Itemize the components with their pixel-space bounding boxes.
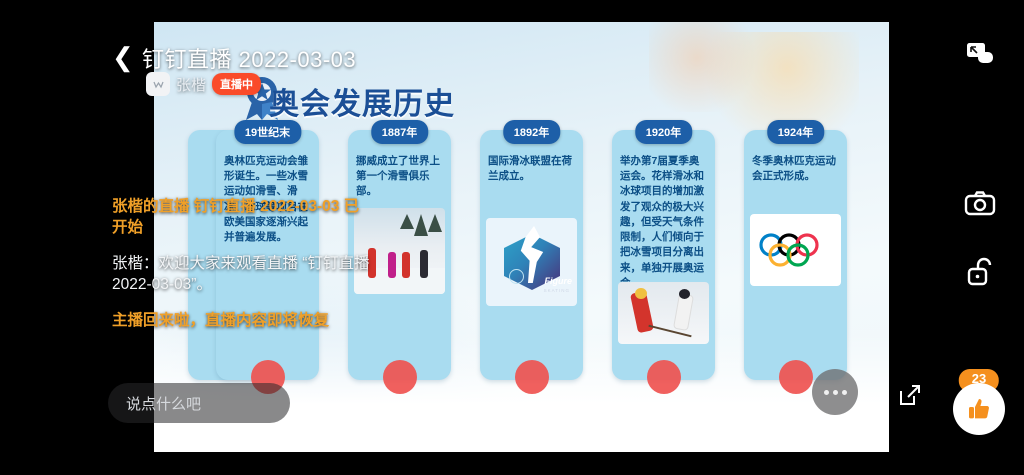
- decor-sparkle-2: [649, 22, 769, 112]
- chat-input-placeholder: 说点什么吧: [126, 393, 201, 414]
- unlock-icon: [966, 257, 994, 287]
- lock-screen-button[interactable]: [954, 246, 1006, 298]
- ice-hockey-photo: [618, 282, 709, 344]
- thumbs-up-icon: [965, 395, 993, 423]
- chat-input[interactable]: 说点什么吧: [108, 383, 290, 423]
- picture-in-picture-button[interactable]: [954, 28, 1006, 80]
- card-text: 举办第7届夏季奥运会。花样滑冰和冰球项目的增加激发了观众的极大兴趣，但受天气条件…: [620, 154, 707, 291]
- share-external-icon: [897, 382, 923, 408]
- card-year-badge: 1892年: [503, 120, 560, 144]
- card-dot: [779, 360, 813, 394]
- card-year-badge: 1924年: [767, 120, 824, 144]
- host-name: 张楷: [176, 74, 206, 95]
- card-text: 挪威成立了世界上第一个滑雪俱乐部。: [356, 154, 443, 200]
- host-info[interactable]: 张楷 直播中: [146, 72, 261, 96]
- screenshot-button[interactable]: [954, 178, 1006, 230]
- chat-message: 张楷的直播 钉钉直播 2022-03-03 已开始: [112, 196, 372, 239]
- share-button[interactable]: [888, 373, 932, 417]
- live-stream-screen: 奥会发展历史 19世纪末 奥林匹克运动会雏形诞生。一些冰雪运动如滑雪、滑冰、冰球…: [0, 0, 1024, 475]
- card-dot: [515, 360, 549, 394]
- timeline-card[interactable]: 1920年 举办第7届夏季奥运会。花样滑冰和冰球项目的增加激发了观众的极大兴趣，…: [612, 130, 715, 380]
- chat-message: 张楷：欢迎大家来观看直播 “钉钉直播 2022-03-03”。: [112, 253, 372, 296]
- chat-message: 主播回来啦，直播内容即将恢复: [112, 310, 372, 331]
- back-icon[interactable]: ❮: [112, 44, 134, 70]
- more-dots-icon: [833, 390, 838, 395]
- card-dot: [647, 360, 681, 394]
- card-text: 国际滑冰联盟在荷兰成立。: [488, 154, 575, 184]
- page-title: 钉钉直播 2022-03-03: [142, 42, 356, 74]
- more-options-button[interactable]: [812, 369, 858, 415]
- live-status-badge: 直播中: [212, 73, 261, 95]
- avatar[interactable]: [146, 72, 170, 96]
- card-year-badge: 19世纪末: [234, 120, 301, 144]
- more-dots-icon: [824, 390, 829, 395]
- picture-in-picture-icon: [965, 41, 995, 67]
- olympic-rings-icon: [750, 214, 841, 286]
- timeline-card[interactable]: 1924年 冬季奥林匹克运动会正式形成。: [744, 130, 847, 380]
- chat-overlay[interactable]: 张楷的直播 钉钉直播 2022-03-03 已开始 张楷：欢迎大家来观看直播 “…: [112, 196, 372, 345]
- card-dot: [383, 360, 417, 394]
- timeline-card[interactable]: 1892年 国际滑冰联盟在荷兰成立。 Figure SKATING: [480, 130, 583, 380]
- logo-sublabel: SKATING: [544, 288, 570, 293]
- isu-figure-skating-logo: Figure SKATING: [486, 218, 577, 306]
- avatar-glyph-icon: [152, 78, 165, 91]
- logo-label: Figure: [544, 276, 572, 286]
- more-dots-icon: [842, 390, 847, 395]
- like-button[interactable]: 23: [948, 369, 1010, 435]
- card-year-badge: 1887年: [371, 120, 428, 144]
- like-circle[interactable]: [953, 383, 1005, 435]
- card-text: 冬季奥林匹克运动会正式形成。: [752, 154, 839, 184]
- camera-icon: [964, 191, 996, 217]
- card-year-badge: 1920年: [635, 120, 692, 144]
